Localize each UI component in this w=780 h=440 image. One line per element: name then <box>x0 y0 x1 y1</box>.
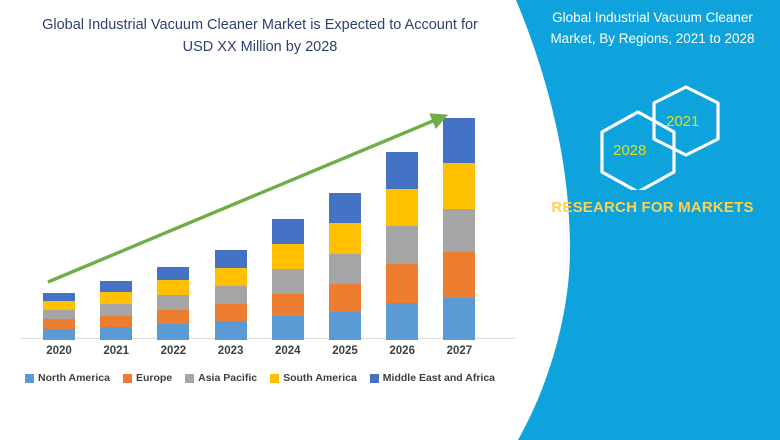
bar-segment <box>272 316 304 340</box>
bar-segment <box>157 280 189 295</box>
bar-segment <box>386 226 418 263</box>
legend-item[interactable]: Europe <box>123 372 172 384</box>
legend-swatch-icon <box>370 374 379 383</box>
bar-column <box>100 281 132 340</box>
bar-column <box>215 250 247 340</box>
legend-label: Asia Pacific <box>198 372 257 384</box>
bar-segment <box>329 223 361 253</box>
bar-segment <box>443 118 475 163</box>
bar-segment <box>329 284 361 311</box>
bar-segment <box>100 292 132 304</box>
bar-segment <box>100 304 132 316</box>
legend-swatch-icon <box>185 374 194 383</box>
bar-segment <box>272 269 304 294</box>
bar-segment <box>386 152 418 189</box>
bar-segment <box>43 310 75 320</box>
bar-segment <box>43 301 75 310</box>
legend-item[interactable]: Asia Pacific <box>185 372 257 384</box>
bar-segment <box>272 294 304 317</box>
bar-segment <box>443 209 475 252</box>
bar-segment <box>329 312 361 340</box>
bar-segment <box>43 319 75 329</box>
bar-segment <box>215 250 247 268</box>
panel-title: Global Industrial Vacuum Cleaner Market,… <box>530 8 775 50</box>
x-axis-label: 2027 <box>429 345 489 357</box>
legend-item[interactable]: South America <box>270 372 357 384</box>
right-info-panel: Global Industrial Vacuum Cleaner Market,… <box>500 0 780 440</box>
bar-segment <box>329 193 361 223</box>
bar-segment <box>215 286 247 304</box>
page-title: Global Industrial Vacuum Cleaner Market … <box>30 14 490 59</box>
bar-segment <box>157 267 189 281</box>
bar-segment <box>157 295 189 310</box>
legend-label: South America <box>283 372 357 384</box>
bar-segment <box>100 281 132 292</box>
legend-item[interactable]: North America <box>25 372 110 384</box>
brand-name: RESEARCH FOR MARKETS <box>525 196 780 220</box>
hexagon-outlines-icon <box>590 85 740 190</box>
legend-swatch-icon <box>123 374 132 383</box>
bar-segment <box>215 321 247 340</box>
bar-segment <box>157 310 189 325</box>
bar-segment <box>329 254 361 284</box>
bar-segment <box>215 304 247 322</box>
bar-segment <box>272 244 304 269</box>
bar-column <box>386 152 418 340</box>
x-axis-label: 2022 <box>143 345 203 357</box>
bar-segment <box>386 303 418 340</box>
x-axis-label: 2020 <box>29 345 89 357</box>
bar-segment <box>215 268 247 287</box>
bar-column <box>443 118 475 340</box>
bar-segment <box>43 329 75 340</box>
x-axis-label: 2024 <box>258 345 318 357</box>
chart-legend: North AmericaEuropeAsia PacificSouth Ame… <box>0 372 520 384</box>
stacked-bar-chart <box>20 95 510 340</box>
x-axis-label: 2023 <box>201 345 261 357</box>
legend-label: North America <box>38 372 110 384</box>
bar-column <box>43 293 75 340</box>
bar-segment <box>443 252 475 298</box>
x-axis-label: 2021 <box>86 345 146 357</box>
x-axis-label: 2025 <box>315 345 375 357</box>
legend-swatch-icon <box>270 374 279 383</box>
bar-segment <box>272 219 304 244</box>
x-axis-label: 2026 <box>372 345 432 357</box>
bar-segment <box>157 324 189 340</box>
bar-segment <box>100 316 132 328</box>
bar-segment <box>43 293 75 301</box>
bar-segment <box>100 327 132 340</box>
legend-label: Europe <box>136 372 172 384</box>
bar-column <box>157 267 189 340</box>
hex-2028-label: 2028 <box>613 142 646 159</box>
hex-2021-label: 2021 <box>666 113 699 130</box>
bar-segment <box>443 163 475 209</box>
legend-swatch-icon <box>25 374 34 383</box>
legend-label: Middle East and Africa <box>383 372 495 384</box>
bar-segment <box>443 298 475 340</box>
bar-segment <box>386 189 418 226</box>
bar-column <box>329 193 361 340</box>
infographic-root: Global Industrial Vacuum Cleaner Market … <box>0 0 780 440</box>
hexagon-group: 2021 2028 <box>590 85 740 190</box>
bar-column <box>272 219 304 340</box>
bar-segment <box>386 264 418 303</box>
legend-item[interactable]: Middle East and Africa <box>370 372 495 384</box>
panel-background-shape <box>500 0 780 440</box>
